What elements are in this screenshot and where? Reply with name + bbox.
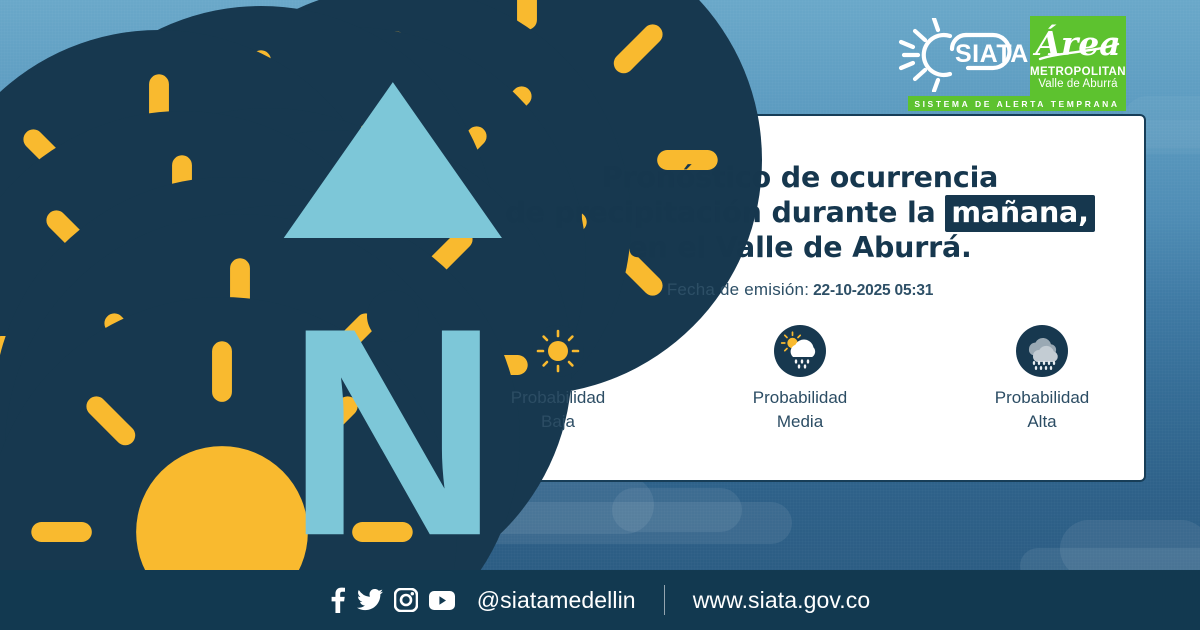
sun-cloud-rain-icon (774, 325, 826, 377)
legend-label-media: Probabilidad Media (725, 386, 875, 434)
probability-legend: Probabilidad Baja (470, 325, 1130, 434)
issue-date-label: Fecha de emisión: (667, 280, 809, 299)
compass-glyph: N (159, 51, 627, 581)
social-handle[interactable]: @siatamedellin (477, 587, 636, 614)
legend-media-line2: Media (725, 410, 875, 434)
legend-item-media: Probabilidad Media (725, 325, 875, 434)
siata-logo-icon: SIATA (894, 18, 1030, 92)
logo-group: SIATA Área METROPOLITANA Valle de Aburrá… (894, 16, 1126, 112)
facebook-icon[interactable] (330, 587, 346, 613)
headline-line-2-text: de precipitación durante la (505, 196, 945, 229)
page-title: Pronóstico de ocurrencia de precipitació… (470, 160, 1130, 265)
legend-label-alta: Probabilidad Alta (967, 386, 1117, 434)
area-script-icon: Área (1030, 18, 1126, 66)
instagram-icon[interactable] (394, 588, 418, 612)
tagline-strip: SISTEMA DE ALERTA TEMPRANA (908, 96, 1126, 111)
valle-de-aburra-map: N (60, 40, 530, 570)
legend-label-baja: Probabilidad Baja (483, 386, 633, 434)
footer-divider (664, 585, 665, 615)
legend-media-line1: Probabilidad (753, 388, 848, 407)
legend-baja-line2: Baja (483, 410, 633, 434)
legend-alta-line1: Probabilidad (995, 388, 1090, 407)
infographic-root: SIATA Área METROPOLITANA Valle de Aburrá… (0, 0, 1200, 630)
compass-label: N (286, 266, 500, 597)
headline-highlight: mañana, (945, 195, 1094, 232)
area-line2: Valle de Aburrá (1030, 78, 1126, 91)
headline-line-2: de precipitación durante la mañana, (470, 195, 1130, 230)
website-url[interactable]: www.siata.gov.co (693, 587, 871, 614)
headline-line-1: Pronóstico de ocurrencia (470, 160, 1130, 195)
issue-date-value: 22-10-2025 05:31 (813, 282, 933, 299)
sun-icon (532, 325, 584, 377)
social-icons (330, 587, 455, 613)
issue-date: Fecha de emisión:22-10-2025 05:31 (470, 280, 1130, 300)
legend-alta-line2: Alta (967, 410, 1117, 434)
area-metropolitana-logo: Área METROPOLITANA Valle de Aburrá (1030, 16, 1126, 100)
headline-panel: Pronóstico de ocurrencia de precipitació… (470, 160, 1130, 300)
cloud-rain-icon (1016, 325, 1068, 377)
youtube-icon[interactable] (429, 591, 455, 610)
area-line1: METROPOLITANA (1030, 66, 1126, 78)
legend-item-alta: Probabilidad Alta (967, 325, 1117, 434)
legend-item-baja: Probabilidad Baja (483, 325, 633, 434)
siata-wordmark: SIATA (955, 40, 1029, 68)
footer-bar: @siatamedellin www.siata.gov.co (0, 570, 1200, 630)
twitter-icon[interactable] (357, 589, 383, 611)
legend-baja-line1: Probabilidad (511, 388, 606, 407)
compass-north-icon: N (367, 290, 419, 342)
headline-line-3: en el Valle de Aburrá. (470, 230, 1130, 265)
